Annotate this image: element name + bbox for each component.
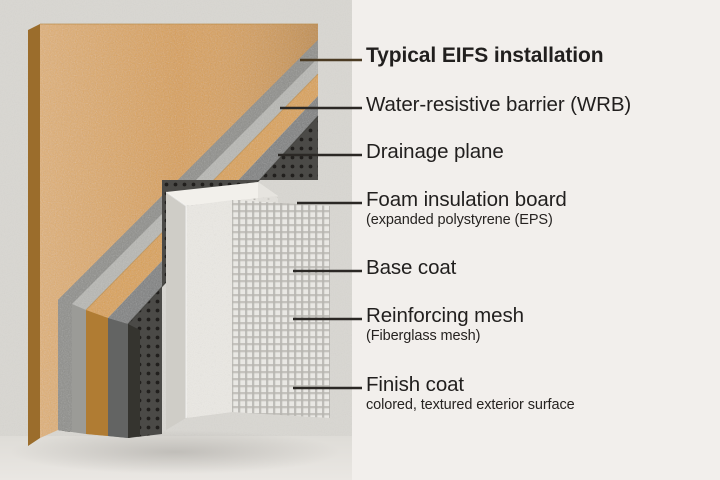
callout-mesh-sub: (Fiberglass mesh) [366, 329, 524, 344]
callout-base-coat-main: Base coat [366, 257, 456, 279]
callout-foam-sub: (expanded polystyrene (EPS) [366, 213, 567, 228]
callout-reinforcing-mesh: Reinforcing mesh (Fiberglass mesh) [366, 305, 524, 344]
callout-mesh-main: Reinforcing mesh [366, 305, 524, 327]
callout-finish-sub: colored, textured exterior surface [366, 398, 575, 413]
callout-wrb-main: Water-resistive barrier (WRB) [366, 94, 631, 116]
callout-title-main: Typical EIFS installation [366, 45, 604, 67]
callout-water-resistive-barrier: Water-resistive barrier (WRB) [366, 94, 631, 116]
callout-labels: Typical EIFS installation Water-resistiv… [0, 0, 720, 480]
callout-drainage-plane: Drainage plane [366, 141, 504, 163]
callout-base-coat: Base coat [366, 257, 456, 279]
callout-foam-insulation-board: Foam insulation board (expanded polystyr… [366, 189, 567, 228]
callout-foam-main: Foam insulation board [366, 189, 567, 211]
callout-typical-eifs-installation: Typical EIFS installation [366, 45, 604, 67]
callout-drainage-main: Drainage plane [366, 141, 504, 163]
callout-finish-main: Finish coat [366, 374, 575, 396]
callout-finish-coat: Finish coat colored, textured exterior s… [366, 374, 575, 413]
